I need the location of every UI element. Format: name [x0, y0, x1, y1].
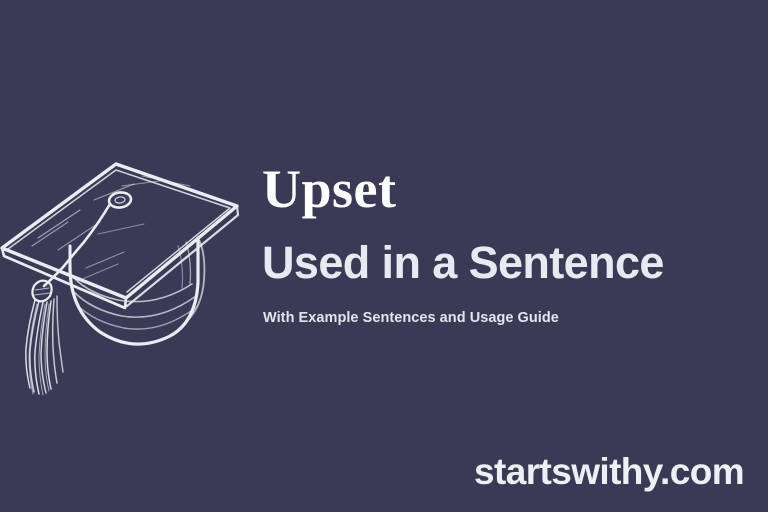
text-block: Upset Used in a Sentence With Example Se…: [262, 158, 762, 328]
tagline: With Example Sentences and Usage Guide: [263, 308, 762, 328]
graduation-cap-icon: [0, 142, 244, 372]
headline: Used in a Sentence: [262, 236, 762, 290]
word-title: Upset: [262, 158, 762, 220]
promo-card: Upset Used in a Sentence With Example Se…: [0, 0, 768, 512]
brand-url: startswithy.com: [474, 450, 744, 494]
